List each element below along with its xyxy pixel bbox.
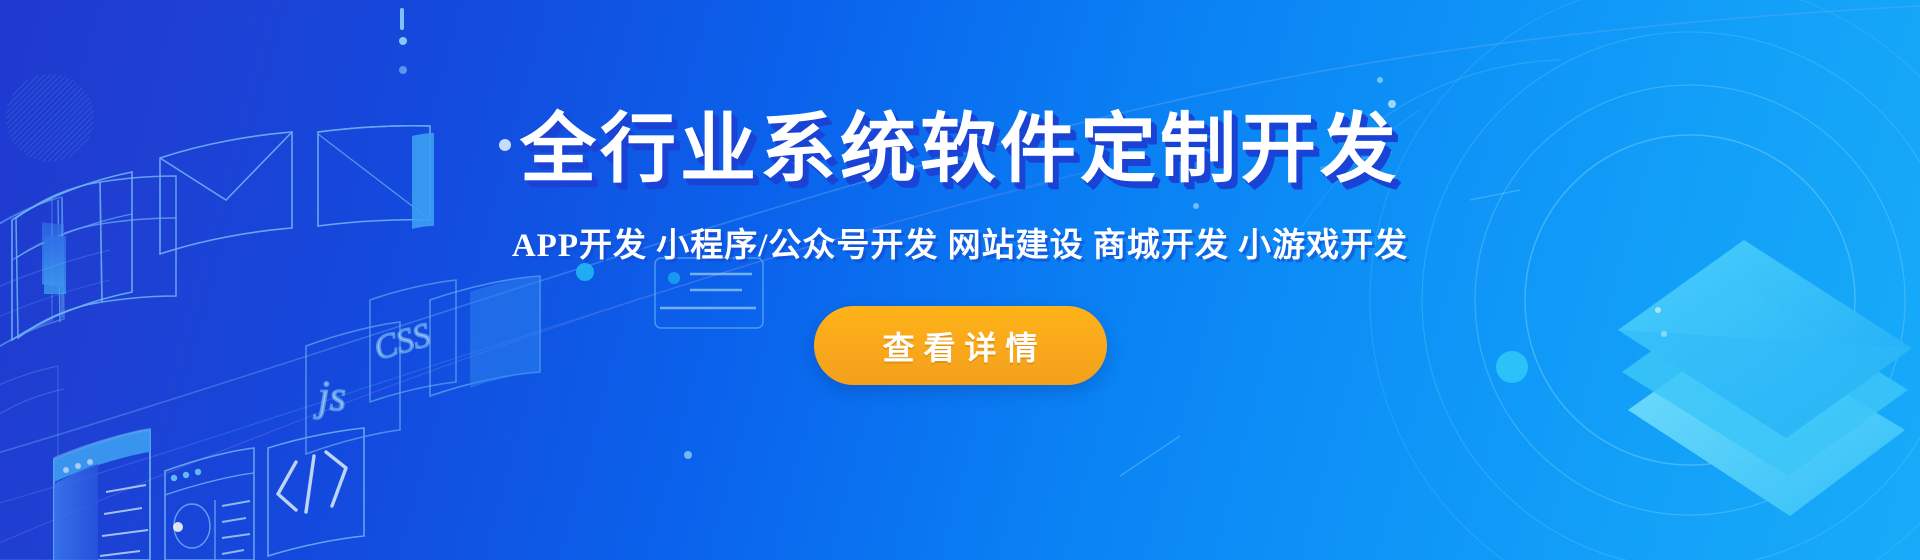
banner-headline: 全行业系统软件定制开发 bbox=[520, 112, 1400, 188]
banner-content: 全行业系统软件定制开发 APP开发 小程序/公众号开发 网站建设 商城开发 小游… bbox=[0, 0, 1920, 560]
banner-subheadline: APP开发 小程序/公众号开发 网站建设 商城开发 小游戏开发 bbox=[512, 218, 1408, 266]
promo-banner: js CSS bbox=[0, 0, 1920, 560]
view-details-button[interactable]: 查看详情 bbox=[814, 306, 1107, 385]
